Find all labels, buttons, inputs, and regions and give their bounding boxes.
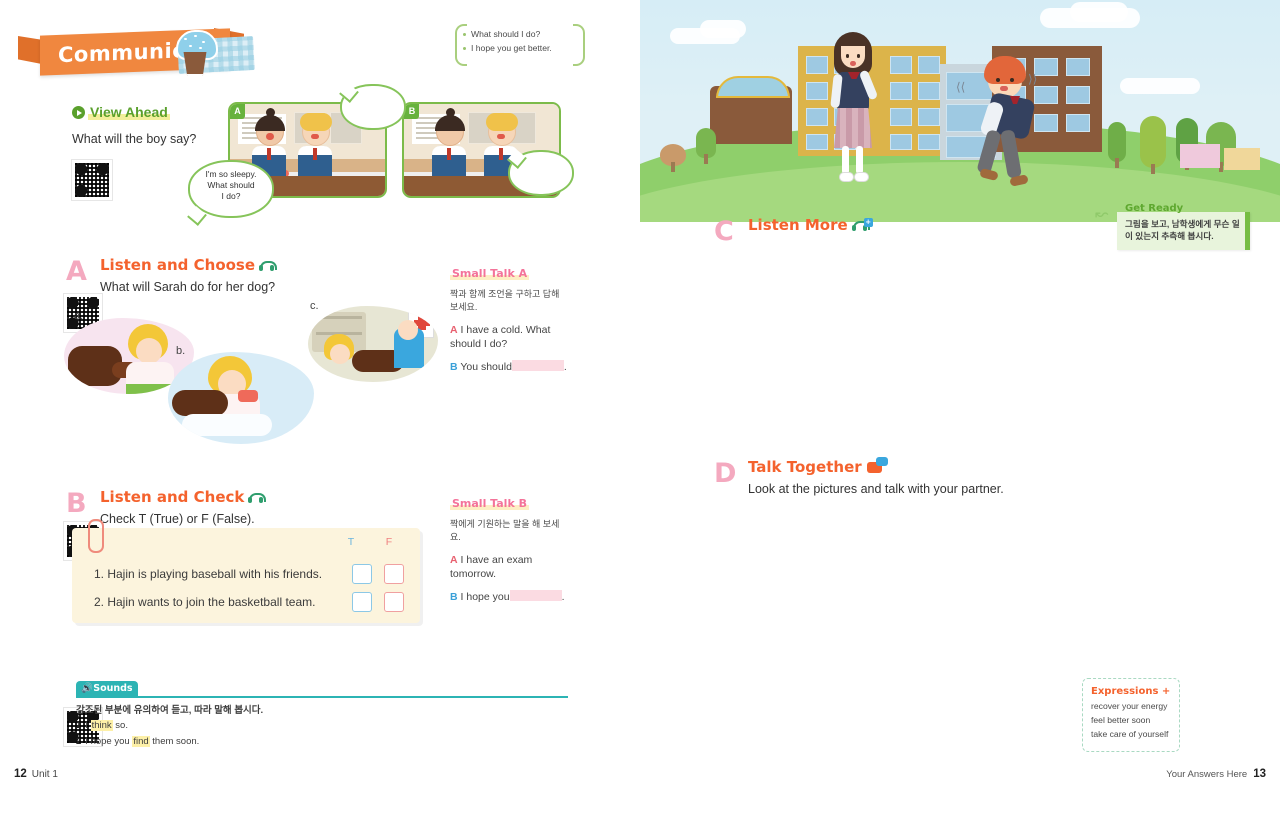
line-text: I hope you bbox=[461, 591, 510, 603]
section-c-title-text: Listen More bbox=[748, 216, 848, 234]
speech-bubble-girl-a: I'm so sleepy. What should I do? bbox=[188, 160, 274, 218]
section-d-title-text: Talk Together bbox=[748, 458, 862, 476]
bracket-left bbox=[455, 24, 467, 66]
footer-right: Your Answers Here13 bbox=[1166, 768, 1266, 780]
speaker-label: B bbox=[450, 361, 458, 373]
cupcake-icon bbox=[172, 30, 218, 80]
headphone-icon bbox=[260, 261, 273, 271]
left-page: Communicate What should I do? I hope you… bbox=[0, 0, 640, 814]
sounds-label: Sounds bbox=[93, 683, 132, 694]
section-c: C Listen More+ bbox=[714, 216, 875, 234]
expression-item: feel better soon bbox=[1083, 711, 1179, 725]
panel-tag: A bbox=[230, 104, 245, 119]
line-tail: . bbox=[564, 361, 567, 373]
tf-header: T F bbox=[336, 536, 404, 548]
column-header-t: T bbox=[336, 536, 366, 548]
small-talk-a-korean: 짝과 함께 조언을 구하고 답해 보세요. bbox=[450, 288, 570, 314]
sounds-item-1: 1I think so. bbox=[76, 720, 128, 731]
curved-arrow-icon: ↜ bbox=[1095, 204, 1108, 224]
small-talk-a: Small Talk A 짝과 함께 조언을 구하고 답해 보세요. A I h… bbox=[450, 264, 570, 374]
page-number: 13 bbox=[1253, 768, 1266, 780]
plus-badge-icon: + bbox=[864, 218, 873, 227]
view-ahead-block: View Ahead What will the boy say? bbox=[72, 104, 196, 146]
speech-bubble-boy-b bbox=[508, 150, 574, 196]
paperclip-icon bbox=[88, 519, 104, 553]
unit-label: Unit 1 bbox=[32, 769, 58, 780]
get-ready-banner: ↜ Get Ready 그림을 보고, 남학생에게 무슨 일이 있는지 추측해 … bbox=[1117, 208, 1257, 250]
key-expressions-bubble: What should I do? I hope you get better. bbox=[455, 24, 585, 62]
small-talk-b-korean: 짝에게 기원하는 말을 해 보세요. bbox=[450, 518, 570, 544]
speech-bubble-boy-a bbox=[340, 84, 406, 130]
item-number: 1 bbox=[76, 720, 81, 731]
option-image-b[interactable] bbox=[168, 352, 314, 444]
speaker-label: B bbox=[450, 591, 458, 603]
item-post: so. bbox=[113, 720, 128, 731]
true-false-card: T F 1. Hajin is playing baseball with hi… bbox=[72, 528, 420, 623]
item-number: 2 bbox=[76, 736, 81, 747]
small-talk-a-line-2: B You should. bbox=[450, 360, 570, 374]
item-highlight: find bbox=[132, 736, 149, 747]
small-talk-a-line-1: A I have a cold. What should I do? bbox=[450, 323, 570, 351]
item-highlight: think bbox=[91, 720, 113, 731]
speaker-label: A bbox=[450, 554, 458, 566]
item-post: them soon. bbox=[150, 736, 200, 747]
option-label-a: a. bbox=[74, 310, 83, 322]
checkbox-true[interactable] bbox=[352, 564, 372, 584]
small-talk-b-line-2: B I hope you. bbox=[450, 590, 570, 604]
speaker-label: A bbox=[450, 324, 458, 336]
view-ahead-title: View Ahead bbox=[72, 104, 196, 120]
statement-text: 2. Hajin wants to join the basketball te… bbox=[94, 595, 340, 609]
checkbox-false[interactable] bbox=[384, 564, 404, 584]
section-b-title-text: Listen and Check bbox=[100, 488, 244, 506]
section-letter-d: D bbox=[714, 460, 736, 487]
view-ahead-question: What will the boy say? bbox=[72, 132, 196, 146]
get-ready-korean: 그림을 보고, 남학생에게 무슨 일이 있는지 추측해 봅시다. bbox=[1125, 218, 1241, 242]
line-text: I have an exam tomorrow. bbox=[450, 554, 532, 580]
speaker-icon: 🔊 bbox=[81, 683, 93, 694]
sounds-korean: 강조된 부분에 유의하여 듣고, 따라 말해 봅시다. bbox=[76, 702, 263, 716]
key-expression-item: I hope you get better. bbox=[471, 41, 585, 55]
headphone-icon bbox=[249, 493, 262, 503]
checkbox-true[interactable] bbox=[352, 592, 372, 612]
expression-item: recover your energy bbox=[1083, 697, 1179, 711]
item-pre: I bbox=[85, 720, 90, 731]
section-letter-a: A bbox=[66, 258, 87, 285]
school-scene-illustration: ⟨⟨ ⟩⟩ bbox=[640, 0, 1280, 222]
section-a: A Listen and Choose What will Sarah do f… bbox=[66, 256, 275, 294]
sounds-tab: 🔊Sounds bbox=[76, 681, 138, 697]
panel-tag: B bbox=[404, 104, 419, 119]
page-number: 12 bbox=[14, 768, 27, 780]
section-a-title-text: Listen and Choose bbox=[100, 256, 255, 274]
qr-code-view-ahead[interactable] bbox=[72, 160, 112, 200]
section-b-title: Listen and Check bbox=[100, 488, 262, 506]
chat-bubble-icon bbox=[867, 462, 882, 473]
small-talk-b-title: Small Talk B bbox=[450, 497, 529, 510]
sounds-item-2: 2I hope you find them soon. bbox=[76, 736, 199, 747]
answer-blank[interactable] bbox=[510, 590, 562, 601]
line-tail: . bbox=[562, 591, 565, 603]
table-row: 2. Hajin wants to join the basketball te… bbox=[94, 592, 404, 612]
play-icon[interactable] bbox=[72, 106, 85, 119]
option-label-b: b. bbox=[176, 345, 185, 357]
section-d-instruction: Look at the pictures and talk with your … bbox=[748, 482, 1004, 496]
sounds-rule bbox=[76, 696, 568, 698]
expressions-box: Expressions + recover your energy feel b… bbox=[1082, 678, 1180, 752]
small-talk-a-title: Small Talk A bbox=[450, 267, 529, 280]
section-a-question: What will Sarah do for her dog? bbox=[100, 280, 275, 294]
section-b-instruction: Check T (True) or F (False). bbox=[100, 512, 262, 526]
column-header-f: F bbox=[374, 536, 404, 548]
section-a-title: Listen and Choose bbox=[100, 256, 275, 274]
section-d-title: Talk Together bbox=[748, 458, 1004, 476]
section-d: D Talk Together Look at the pictures and… bbox=[714, 458, 1004, 496]
answer-blank[interactable] bbox=[512, 360, 564, 371]
small-talk-b: Small Talk B 짝에게 기원하는 말을 해 보세요. A I have… bbox=[450, 494, 570, 604]
section-letter-b: B bbox=[66, 490, 87, 517]
line-text: I have a cold. What should I do? bbox=[450, 324, 550, 350]
get-ready-title: Get Ready bbox=[1125, 203, 1183, 214]
expression-item: take care of yourself bbox=[1083, 725, 1179, 739]
right-page: ⟨⟨ ⟩⟩ ↜ Get Ready 그림을 보고, 남학생에게 무슨 일이 있는… bbox=[640, 0, 1280, 814]
option-image-c[interactable] bbox=[308, 306, 438, 382]
small-talk-b-line-1: A I have an exam tomorrow. bbox=[450, 553, 570, 581]
answers-label: Your Answers Here bbox=[1166, 769, 1247, 780]
section-c-title: Listen More+ bbox=[748, 216, 875, 234]
table-row: 1. Hajin is playing baseball with his fr… bbox=[94, 564, 404, 584]
statement-text: 1. Hajin is playing baseball with his fr… bbox=[94, 567, 340, 581]
checkbox-false[interactable] bbox=[384, 592, 404, 612]
boy-character: ⟨⟨ ⟩⟩ bbox=[970, 58, 1050, 204]
line-text: You should bbox=[460, 361, 512, 373]
speech-bubble-text: I'm so sleepy. What should I do? bbox=[190, 162, 272, 209]
girl-character bbox=[824, 36, 880, 186]
option-label-c: c. bbox=[310, 300, 319, 312]
view-ahead-label: View Ahead bbox=[88, 104, 170, 120]
key-expression-item: What should I do? bbox=[471, 27, 585, 41]
section-letter-c: C bbox=[714, 218, 734, 245]
footer-left: 12Unit 1 bbox=[14, 768, 58, 780]
expressions-title: Expressions + bbox=[1083, 679, 1179, 697]
item-pre: I hope you bbox=[85, 736, 132, 747]
